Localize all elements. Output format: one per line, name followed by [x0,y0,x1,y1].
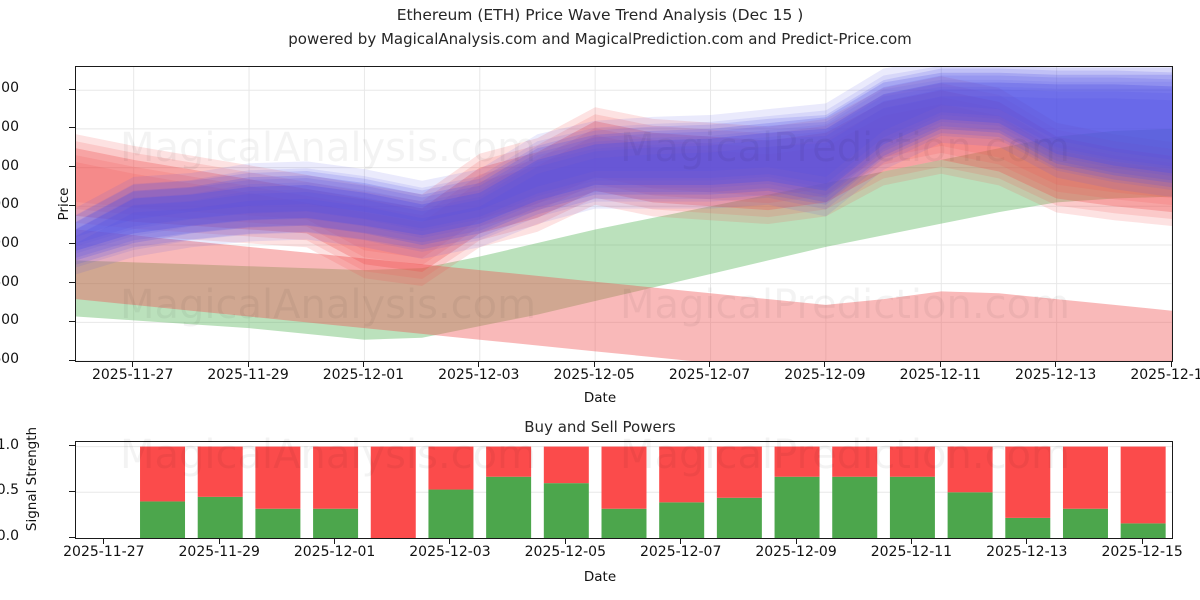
top-chart-x-tick-label: 2025-11-29 [207,367,288,383]
x-tick-mark [478,362,479,367]
bottom-chart-x-tick-label: 2025-12-11 [871,544,952,560]
x-tick-mark [103,539,104,544]
top-chart-y-tick-label: 2700 [0,312,19,328]
bottom-chart-x-axis-label: Date [0,569,1200,585]
top-chart-x-tick-label: 2025-12-07 [669,367,750,383]
sell-power-bar [659,447,704,503]
buy-power-bar [428,490,473,538]
sell-power-bar [255,447,300,509]
x-tick-mark [1026,539,1027,544]
price-wave-plot [75,66,1173,362]
buy-power-bar [486,477,531,538]
x-tick-mark [1171,362,1172,367]
x-tick-mark [1055,362,1056,367]
bottom-chart-x-tick-label: 2025-12-03 [409,544,490,560]
page-title: Ethereum (ETH) Price Wave Trend Analysis… [0,6,1200,24]
sell-power-bar [602,447,647,509]
top-chart-y-tick-label: 3200 [0,119,19,135]
bottom-chart-y-tick-label: 0.0 [0,528,19,544]
buy-power-bar [313,509,358,538]
y-tick-mark [69,537,75,538]
y-tick-mark [69,321,75,322]
buy-power-bar [775,477,820,538]
sell-power-bar [832,447,877,477]
top-chart-x-tick-label: 2025-12-01 [323,367,404,383]
top-chart-x-tick-label: 2025-12-11 [900,367,981,383]
top-chart-y-tick-label: 3100 [0,158,19,174]
x-tick-mark [824,362,825,367]
sell-power-bar [1063,447,1108,509]
top-chart-y-tick-label: 3000 [0,196,19,212]
top-chart-x-axis-label: Date [0,390,1200,406]
top-chart-x-tick-label: 2025-11-27 [92,367,173,383]
top-chart-y-tick-label: 3300 [0,80,19,96]
y-tick-mark [69,445,75,446]
bottom-chart-x-tick-label: 2025-12-05 [525,544,606,560]
buy-power-bar [602,509,647,538]
x-tick-mark [219,539,220,544]
x-tick-mark [565,539,566,544]
sell-power-bar [198,447,243,497]
sell-power-bar [1005,447,1050,518]
sell-power-bar [313,447,358,509]
bottom-chart-y-axis-label: Signal Strength [24,409,40,549]
buy-power-bar [659,502,704,538]
buy-power-bar [544,483,589,538]
sell-power-bar [775,447,820,477]
sell-power-bar [428,447,473,490]
top-chart-y-tick-label: 2900 [0,235,19,251]
buy-sell-powers-plot [75,441,1173,539]
x-tick-mark [709,362,710,367]
bottom-chart-y-tick-label: 0.5 [0,482,19,498]
x-tick-mark [911,539,912,544]
y-tick-mark [69,243,75,244]
buy-power-bar [1005,518,1050,538]
sell-power-bar [890,447,935,477]
x-tick-mark [680,539,681,544]
y-tick-mark [69,282,75,283]
bottom-chart-x-tick-label: 2025-11-29 [179,544,260,560]
top-chart-y-tick-label: 2600 [0,351,19,367]
sell-power-bar [371,447,416,538]
buy-power-bar [255,509,300,538]
bottom-chart-x-tick-label: 2025-12-15 [1101,544,1182,560]
buy-sell-powers-svg [76,442,1172,538]
sell-power-bar [948,447,993,493]
bottom-chart-x-tick-label: 2025-12-13 [986,544,1067,560]
bottom-chart-x-tick-label: 2025-12-07 [640,544,721,560]
y-tick-mark [69,166,75,167]
sell-power-bar [544,447,589,484]
x-tick-mark [796,539,797,544]
price-wave-svg [76,67,1172,361]
x-tick-mark [363,362,364,367]
sell-power-bar [140,447,185,502]
sell-power-bar [486,447,531,477]
buy-power-bar [140,501,185,538]
x-tick-mark [132,362,133,367]
sell-power-bar [717,447,762,498]
top-chart-x-tick-label: 2025-12-13 [1015,367,1096,383]
bottom-chart-title: Buy and Sell Powers [0,418,1200,436]
bottom-chart-y-tick-label: 1.0 [0,437,19,453]
chart-page: Ethereum (ETH) Price Wave Trend Analysis… [0,0,1200,600]
buy-power-bar [890,477,935,538]
bottom-chart-x-tick-label: 2025-12-01 [294,544,375,560]
x-tick-mark [594,362,595,367]
y-tick-mark [69,89,75,90]
buy-power-bar [717,498,762,538]
buy-power-bar [948,492,993,538]
buy-power-bar [1063,509,1108,538]
x-tick-mark [1142,539,1143,544]
top-chart-y-tick-label: 2800 [0,274,19,290]
x-tick-mark [940,362,941,367]
x-tick-mark [334,539,335,544]
x-tick-mark [449,539,450,544]
bottom-chart-x-tick-label: 2025-12-09 [755,544,836,560]
buy-power-bar [198,497,243,538]
x-tick-mark [248,362,249,367]
y-tick-mark [69,205,75,206]
buy-power-bar [832,477,877,538]
y-tick-mark [69,127,75,128]
sell-power-bar [1121,447,1166,524]
page-subtitle: powered by MagicalAnalysis.com and Magic… [0,30,1200,48]
top-chart-x-tick-label: 2025-12-03 [438,367,519,383]
top-chart-x-tick-label: 2025-12-05 [553,367,634,383]
top-chart-x-tick-label: 2025-12-09 [784,367,865,383]
y-tick-mark [69,491,75,492]
top-chart-x-tick-label: 2025-12-15 [1130,367,1200,383]
y-tick-mark [69,360,75,361]
bottom-chart-x-tick-label: 2025-11-27 [63,544,144,560]
buy-power-bar [1121,523,1166,538]
